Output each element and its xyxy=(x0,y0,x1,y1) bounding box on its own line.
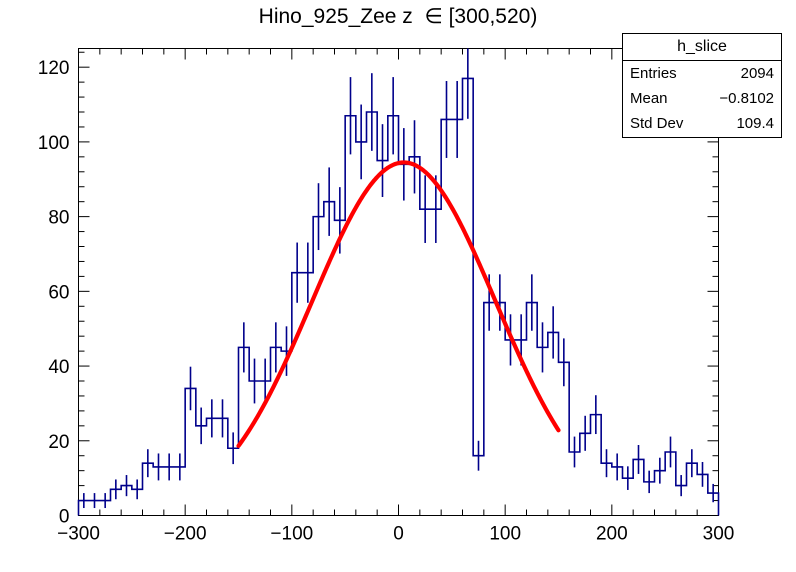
svg-text:200: 200 xyxy=(596,524,628,545)
stats-label-entries: Entries xyxy=(630,61,677,86)
x-axis-tick-labels: −300−200−1000100200300 xyxy=(57,524,734,545)
svg-text:−100: −100 xyxy=(270,524,313,545)
statistics-box[interactable]: h_slice Entries 2094 Mean −0.8102 Std De… xyxy=(622,33,782,138)
svg-text:100: 100 xyxy=(489,524,521,545)
svg-text:0: 0 xyxy=(393,524,404,545)
stats-value-mean: −0.8102 xyxy=(719,86,774,111)
stats-box-title: h_slice xyxy=(623,34,781,61)
stats-row: Mean −0.8102 xyxy=(623,86,781,111)
svg-text:300: 300 xyxy=(703,524,735,545)
svg-text:0: 0 xyxy=(59,507,70,528)
svg-text:100: 100 xyxy=(38,133,70,154)
stats-row: Entries 2094 xyxy=(623,61,781,86)
stats-value-stddev: 109.4 xyxy=(736,111,774,136)
gaussian-fit-curve xyxy=(239,162,559,445)
y-axis-tick-labels: 020406080100120 xyxy=(38,58,70,527)
stats-label-stddev: Std Dev xyxy=(630,111,683,136)
svg-text:80: 80 xyxy=(48,208,69,229)
svg-text:60: 60 xyxy=(48,282,69,303)
stats-label-mean: Mean xyxy=(630,86,668,111)
svg-text:40: 40 xyxy=(48,357,69,378)
stats-value-entries: 2094 xyxy=(741,61,774,86)
svg-text:120: 120 xyxy=(38,58,70,79)
root-canvas: Hino_925_Zee z ∈ [300,520) −300−200−1000… xyxy=(0,0,796,572)
svg-text:−200: −200 xyxy=(164,524,207,545)
svg-text:20: 20 xyxy=(48,432,69,453)
stats-row: Std Dev 109.4 xyxy=(623,111,781,136)
histogram-steps xyxy=(79,78,719,515)
